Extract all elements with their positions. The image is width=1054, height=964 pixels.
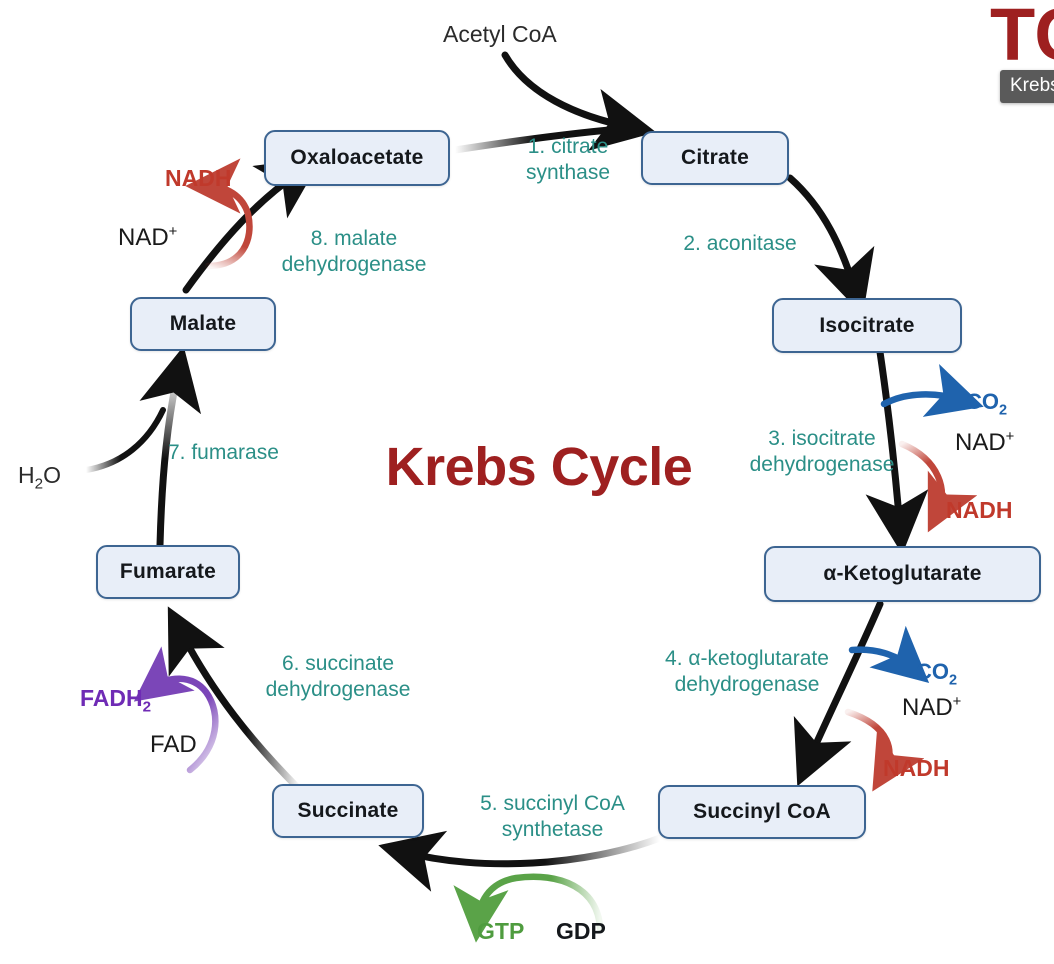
tooltip: Krebs Cycle	[1000, 70, 1054, 103]
label-nad-plus-step3: NAD+	[955, 429, 1014, 457]
arrow-co2-release-step3	[884, 394, 962, 404]
label-water: H2O	[18, 462, 61, 493]
enzyme-label-6-succinate-dehydrogenase: 6. succinate dehydrogenase	[238, 651, 438, 703]
label-fad: FAD	[150, 731, 197, 759]
label-co2-step3: CO2	[966, 389, 1007, 418]
node-ketoglutarate-label: α-Ketoglutarate	[823, 562, 981, 586]
node-citrate-label: Citrate	[681, 146, 749, 170]
label-nadh-step8: NADH	[165, 165, 231, 192]
node-oxaloacetate[interactable]: Oxaloacetate	[264, 130, 450, 186]
node-isocitrate-label: Isocitrate	[819, 314, 914, 338]
label-gdp: GDP	[556, 918, 606, 945]
enzyme-label-8-malate-dehydrogenase: 8. malate dehydrogenase	[254, 226, 454, 278]
label-nad-plus-step8: NAD+	[118, 224, 177, 252]
enzyme-label-1-citrate-synthase: 1. citrate synthase	[498, 134, 638, 186]
node-succinate-label: Succinate	[297, 799, 398, 823]
arrow-co2-release-step4	[852, 650, 912, 668]
enzyme-label-3-isocitrate-dehydrogenase: 3. isocitrate dehydrogenase	[727, 426, 917, 478]
enzyme-label-7-fumarase: 7. fumarase	[168, 440, 338, 466]
enzyme-label-4-ketoglutarate-dehydrogenase: 4. α-ketoglutarate dehydrogenase	[636, 646, 858, 698]
enzyme-label-2-aconitase: 2. aconitase	[655, 231, 825, 257]
label-acetyl-coa: Acetyl CoA	[443, 21, 557, 48]
page-title: Krebs Cycle	[356, 436, 722, 498]
krebs-cycle-diagram: Oxaloacetate Citrate Isocitrate α-Ketogl…	[0, 0, 1054, 964]
node-ketoglutarate[interactable]: α-Ketoglutarate	[764, 546, 1041, 602]
tca-watermark: TCA	[990, 0, 1054, 77]
label-nad-plus-step4: NAD+	[902, 694, 961, 722]
label-nadh-step4: NADH	[883, 755, 949, 782]
arrow-acetylcoa-to-citrate	[505, 55, 630, 127]
node-malate[interactable]: Malate	[130, 297, 276, 351]
node-fumarate[interactable]: Fumarate	[96, 545, 240, 599]
node-isocitrate[interactable]: Isocitrate	[772, 298, 962, 353]
node-succinyl-coa[interactable]: Succinyl CoA	[658, 785, 866, 839]
node-succinyl-coa-label: Succinyl CoA	[693, 800, 831, 824]
label-nadh-step3: NADH	[946, 497, 1012, 524]
label-co2-step4: CO2	[916, 659, 957, 688]
node-malate-label: Malate	[170, 312, 237, 336]
label-fadh2: FADH2	[80, 685, 151, 716]
node-succinate[interactable]: Succinate	[272, 784, 424, 838]
node-fumarate-label: Fumarate	[120, 560, 216, 584]
node-oxaloacetate-label: Oxaloacetate	[290, 146, 423, 170]
arrow-water-entry	[86, 410, 163, 470]
enzyme-label-5-succinyl-coa-synthetase: 5. succinyl CoA synthetase	[455, 791, 650, 843]
node-citrate[interactable]: Citrate	[641, 131, 789, 185]
label-gtp: GTP	[477, 918, 524, 945]
